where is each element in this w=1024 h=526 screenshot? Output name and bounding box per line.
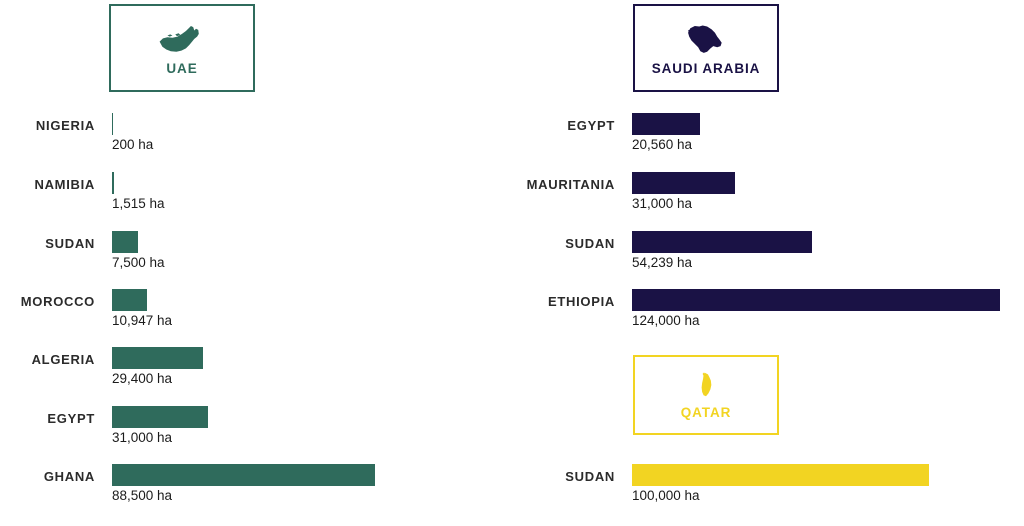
bar-track [112,464,375,486]
country-card-uae: UAE [109,4,255,92]
bar-fill [632,113,700,135]
country-card-uae-label: UAE [166,62,197,76]
uae-panel: UAE NIGERIA 200 ha NAMIBIA 1,515 ha SUDA… [0,0,512,526]
bar-label: NIGERIA [0,118,105,133]
bar-value: 200 ha [112,137,153,152]
bar-value: 54,239 ha [632,255,692,270]
bar-track [112,172,114,194]
bar-track [112,231,138,253]
bar-track [632,172,735,194]
bar-value: 100,000 ha [632,488,700,503]
bar-label: EGYPT [0,411,105,426]
bar-track [632,289,1000,311]
bar-row: GHANA 88,500 ha [0,464,512,510]
bar-row: NAMIBIA 1,515 ha [0,172,512,218]
bar-fill [112,289,147,311]
bar-label: SUDAN [0,236,105,251]
bar-row: SUDAN 7,500 ha [0,231,512,277]
bar-row: EGYPT 20,560 ha [512,113,1024,159]
bar-row: NIGERIA 200 ha [0,113,512,159]
bar-fill [632,172,735,194]
bar-row: ETHIOPIA 124,000 ha [512,289,1024,335]
bar-fill [112,172,114,194]
bar-fill [112,231,138,253]
bar-label: MAURITANIA [512,177,625,192]
uae-map-icon [154,20,210,60]
bar-track [112,113,113,135]
bar-row: ALGERIA 29,400 ha [0,347,512,393]
bar-value: 1,515 ha [112,196,165,211]
bar-row: SUDAN 54,239 ha [512,231,1024,277]
qatar-map-icon [678,370,734,404]
bar-fill [112,406,208,428]
bar-fill [112,347,203,369]
bar-row: MOROCCO 10,947 ha [0,289,512,335]
bar-label: SUDAN [512,469,625,484]
country-card-saudi-arabia-label: SAUDI ARABIA [652,62,761,76]
bar-row: MAURITANIA 31,000 ha [512,172,1024,218]
bar-fill [632,231,812,253]
bar-value: 88,500 ha [112,488,172,503]
bar-label: MOROCCO [0,294,105,309]
bar-label: GHANA [0,469,105,484]
bar-row: EGYPT 31,000 ha [0,406,512,452]
bar-fill [632,464,929,486]
bar-track [112,347,203,369]
bar-fill [632,289,1000,311]
bar-value: 29,400 ha [112,371,172,386]
bar-label: ALGERIA [0,352,105,367]
bar-track [112,289,147,311]
saudi-arabia-map-icon [678,20,734,60]
bar-value: 124,000 ha [632,313,700,328]
bar-fill [112,113,113,135]
bar-label: SUDAN [512,236,625,251]
bar-row: SUDAN 100,000 ha [512,464,1024,510]
bar-track [632,113,700,135]
bar-value: 20,560 ha [632,137,692,152]
bar-fill [112,464,375,486]
country-card-saudi-arabia: SAUDI ARABIA [633,4,779,92]
country-card-qatar: QATAR [633,355,779,435]
country-card-qatar-label: QATAR [681,406,732,420]
bar-track [632,464,929,486]
bar-value: 7,500 ha [112,255,165,270]
bar-label: ETHIOPIA [512,294,625,309]
bar-label: NAMIBIA [0,177,105,192]
bar-value: 10,947 ha [112,313,172,328]
bar-value: 31,000 ha [632,196,692,211]
bar-track [112,406,208,428]
bar-track [632,231,812,253]
bar-label: EGYPT [512,118,625,133]
bar-value: 31,000 ha [112,430,172,445]
